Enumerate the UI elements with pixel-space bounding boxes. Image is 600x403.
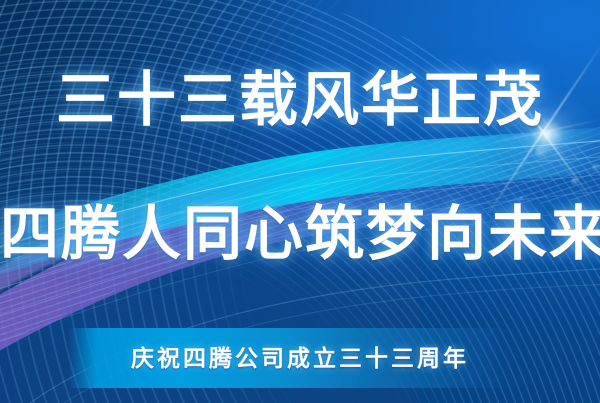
headline-line-2: 四腾人同心筑梦向未来 [0, 196, 600, 272]
headline-line-1: 三十三载风华正茂 [0, 62, 600, 138]
poster-content: 三十三载风华正茂 四腾人同心筑梦向未来 庆祝四腾公司成立三十三周年 [0, 0, 600, 403]
anniversary-poster: 三十三载风华正茂 四腾人同心筑梦向未来 庆祝四腾公司成立三十三周年 [0, 0, 600, 403]
subtitle-text: 庆祝四腾公司成立三十三周年 [0, 336, 600, 380]
